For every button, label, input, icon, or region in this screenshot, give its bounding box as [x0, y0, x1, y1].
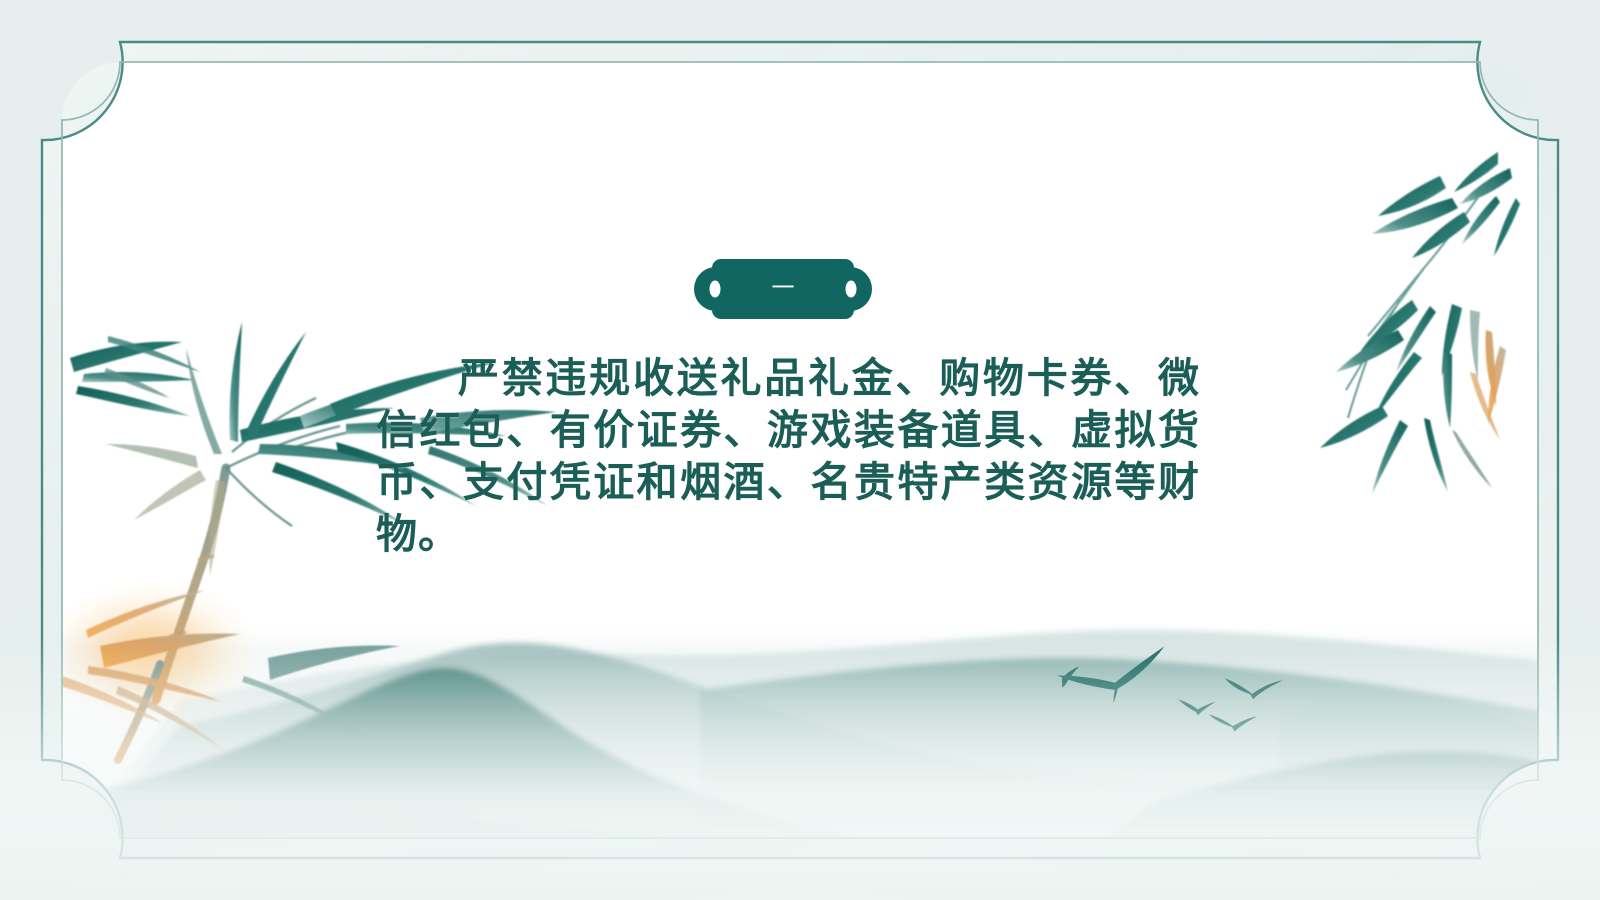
badge-number-label: 一 [694, 259, 872, 319]
main-paragraph: 严禁违规收送礼品礼金、购物卡券、微信红包、有价证券、游戏装备道具、虚拟货币、支付… [376, 352, 1200, 560]
leaf-cluster-top [70, 336, 200, 416]
bird [1209, 714, 1258, 731]
slide-canvas: 一 严禁违规收送礼品礼金、购物卡券、微信红包、有价证券、游戏装备道具、虚拟货币、… [0, 0, 1600, 900]
warm-glow [40, 580, 260, 724]
far-peaks-right [1280, 696, 1548, 800]
bamboo-branch-top-right [1320, 152, 1520, 494]
section-number-badge: 一 [694, 259, 872, 319]
bottom-mist [0, 640, 1600, 900]
flying-birds [1057, 647, 1283, 732]
leaf-cluster-gold [60, 590, 400, 750]
bird [1225, 678, 1283, 699]
bird [1057, 647, 1164, 704]
bird [1178, 699, 1215, 715]
ink-wash-mountains [60, 630, 1548, 868]
bird [1062, 667, 1079, 688]
paragraph-text: 严禁违规收送礼品礼金、购物卡券、微信红包、有价证券、游戏装备道具、虚拟货币、支付… [376, 352, 1200, 560]
